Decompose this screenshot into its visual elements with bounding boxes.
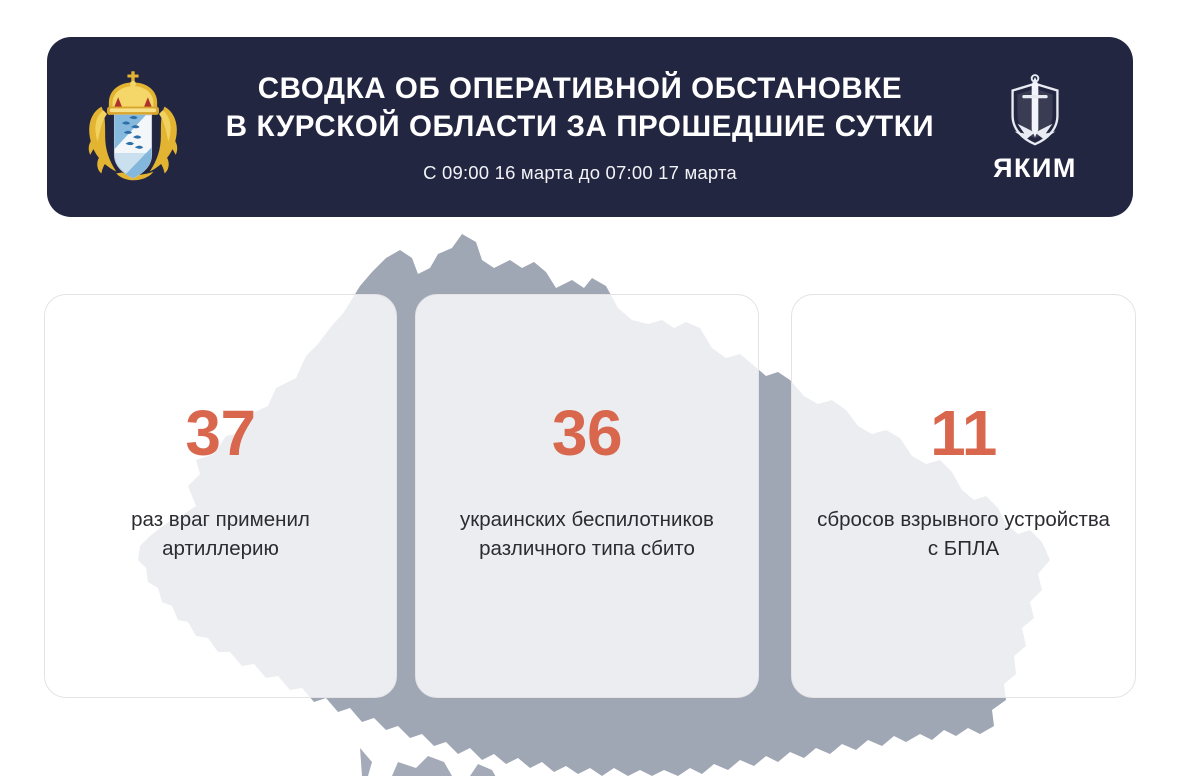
stat-card-artillery: 37 раз враг применил артиллерию: [44, 294, 397, 698]
kursk-oblast-coat-of-arms-icon: [77, 67, 189, 187]
stat-number-explosive-drops: 11: [930, 401, 997, 465]
stats-card-row: 37 раз враг применил артиллерию 36 украи…: [44, 294, 1136, 698]
page-title-line-1: СВОДКА ОБ ОПЕРАТИВНОЙ ОБСТАНОВКЕ: [258, 70, 902, 108]
stat-card-drones-downed: 36 украинских беспилотников различного т…: [415, 294, 759, 698]
stat-number-artillery: 37: [185, 401, 255, 465]
shield-sword-icon: [1002, 73, 1068, 151]
report-period-subtitle: С 09:00 16 марта до 07:00 17 марта: [423, 162, 737, 184]
stat-caption-explosive-drops: сбросов взрывного устройства с БПЛА: [799, 505, 1129, 563]
stat-caption-artillery: раз враг применил артиллерию: [56, 505, 386, 563]
stat-number-drones-downed: 36: [552, 401, 622, 465]
yakim-wordmark: ЯКИМ: [993, 155, 1077, 182]
page-title-line-2: В КУРСКОЙ ОБЛАСТИ ЗА ПРОШЕДШИЕ СУТКИ: [226, 108, 934, 146]
stat-caption-drones-downed: украинских беспилотников различного типа…: [422, 505, 752, 563]
stat-card-explosive-drops: 11 сбросов взрывного устройства с БПЛА: [791, 294, 1136, 698]
header-bar: СВОДКА ОБ ОПЕРАТИВНОЙ ОБСТАНОВКЕ В КУРСК…: [47, 37, 1133, 217]
infographic-root: СВОДКА ОБ ОПЕРАТИВНОЙ ОБСТАНОВКЕ В КУРСК…: [0, 0, 1179, 776]
yakim-logo: ЯКИМ: [971, 73, 1099, 182]
header-text-block: СВОДКА ОБ ОПЕРАТИВНОЙ ОБСТАНОВКЕ В КУРСК…: [189, 70, 971, 185]
map-silhouette-detail: [360, 748, 500, 776]
